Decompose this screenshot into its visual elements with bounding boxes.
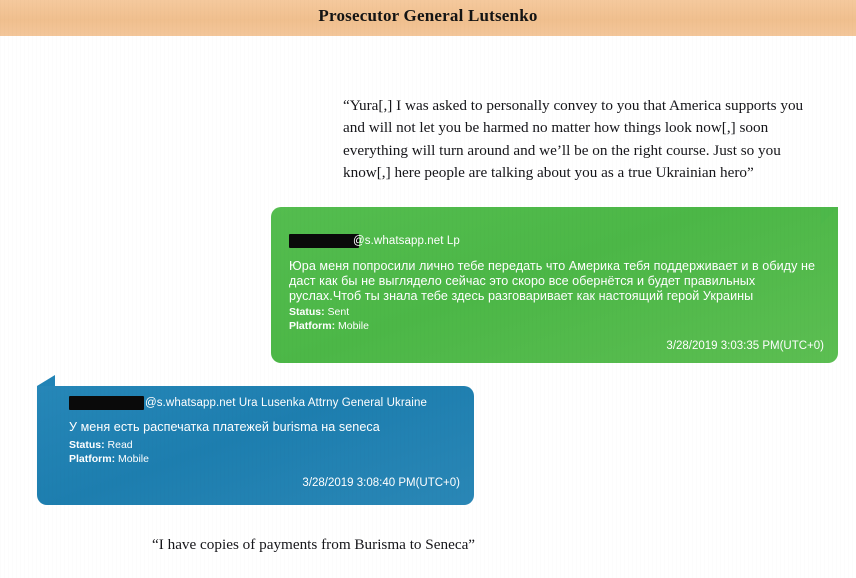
message-timestamp: 3/28/2019 3:08:40 PM(UTC+0): [302, 477, 460, 489]
platform-value: Mobile: [118, 453, 149, 465]
redaction-bar: [69, 396, 144, 410]
platform-row: Platform: Mobile: [289, 320, 369, 332]
platform-row: Platform: Mobile: [69, 453, 149, 465]
document-page: Prosecutor General Lutsenko “Yura[,] I w…: [0, 0, 856, 578]
platform-label: Platform:: [69, 453, 115, 465]
chat-bubble-incoming[interactable]: @s.whatsapp.net Ura Lusenka Attrny Gener…: [37, 386, 474, 505]
status-row: Status: Read: [69, 439, 133, 451]
status-value: Read: [108, 439, 133, 451]
bottom-translation-text: “I have copies of payments from Burisma …: [152, 534, 482, 556]
document-header-band: Prosecutor General Lutsenko: [0, 0, 856, 36]
sender-handle: @s.whatsapp.net Lp: [353, 235, 460, 247]
message-body: У меня есть распечатка платежей burisma …: [69, 420, 459, 435]
page-title: Prosecutor General Lutsenko: [0, 6, 856, 26]
sender-handle: @s.whatsapp.net Ura Lusenka Attrny Gener…: [145, 397, 427, 409]
platform-label: Platform:: [289, 320, 335, 332]
message-body: Юра меня попросили лично тебе передать ч…: [289, 259, 823, 305]
status-row: Status: Sent: [289, 306, 349, 318]
top-translation-text: “Yura[,] I was asked to personally conve…: [343, 95, 813, 185]
message-timestamp: 3/28/2019 3:03:35 PM(UTC+0): [666, 340, 824, 352]
status-value: Sent: [328, 306, 350, 318]
platform-value: Mobile: [338, 320, 369, 332]
status-label: Status:: [69, 439, 105, 451]
bubble-tail-icon: [37, 375, 55, 386]
redaction-bar: [289, 234, 359, 248]
bubble-content: @s.whatsapp.net Ura Lusenka Attrny Gener…: [37, 386, 474, 505]
status-label: Status:: [289, 306, 325, 318]
bubble-content: @s.whatsapp.net Lp Юра меня попросили ли…: [271, 207, 838, 363]
chat-bubble-outgoing[interactable]: @s.whatsapp.net Lp Юра меня попросили ли…: [271, 207, 838, 363]
